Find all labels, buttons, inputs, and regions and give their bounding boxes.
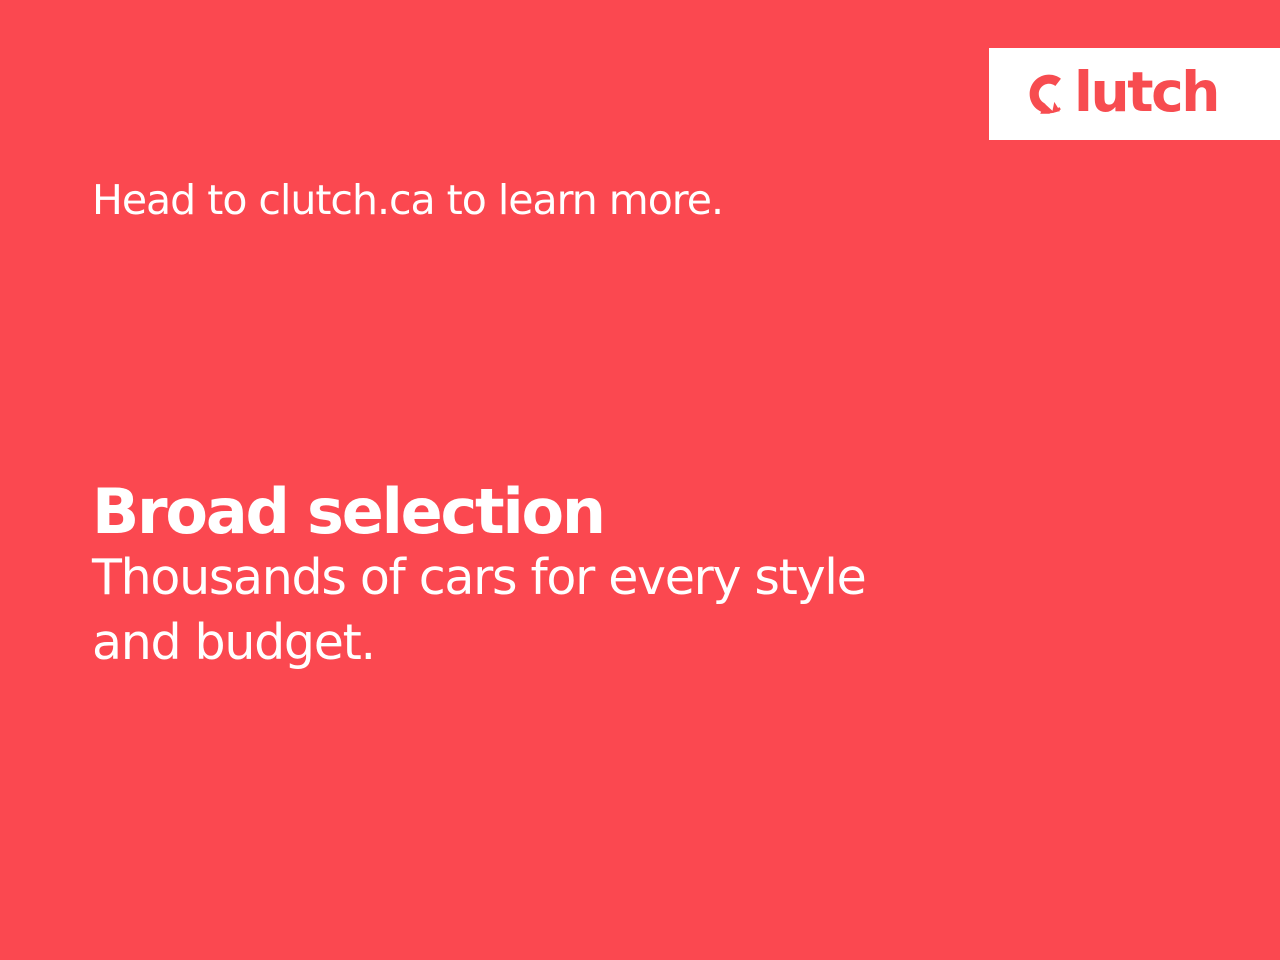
subheading-line-1: Thousands of cars for every style <box>92 545 1052 610</box>
subheading-line-2: and budget. <box>92 610 1052 675</box>
clutch-c-mark-icon <box>1027 72 1071 116</box>
subheading: Thousands of cars for every style and bu… <box>92 545 1052 675</box>
kicker-text: Head to clutch.ca to learn more. <box>92 178 723 223</box>
logo-lockup: lutch <box>1027 67 1218 122</box>
clutch-logo-badge[interactable]: lutch <box>989 48 1280 140</box>
page-title: Broad selection <box>92 478 604 546</box>
slide-canvas: lutch Head to clutch.ca to learn more. B… <box>0 0 1280 960</box>
clutch-wordmark: lutch <box>1074 65 1218 120</box>
